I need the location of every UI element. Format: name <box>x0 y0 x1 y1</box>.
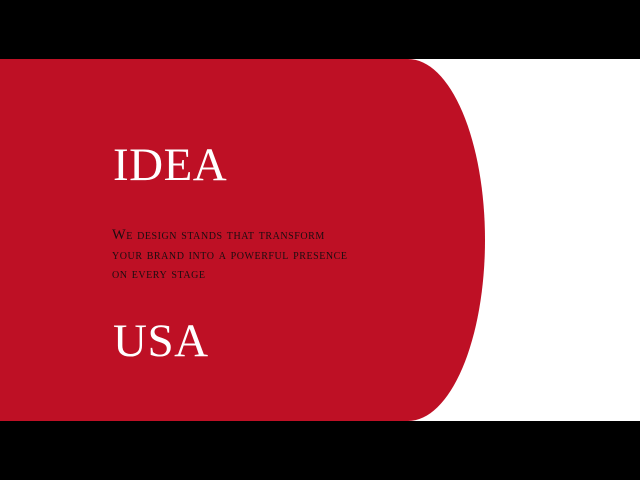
tagline-line-3: on every stage <box>112 265 348 285</box>
slide-canvas: IDEA We design stands that transform you… <box>0 0 640 480</box>
letterbox-bar-top <box>0 0 640 59</box>
letterbox-bar-bottom <box>0 421 640 480</box>
tagline-paragraph: We design stands that transform your bra… <box>112 226 348 285</box>
slide-content-band: IDEA We design stands that transform you… <box>0 59 640 421</box>
tagline-line-1: We design stands that transform <box>112 226 348 246</box>
tagline-line-2: your brand into a powerful presence <box>112 246 348 266</box>
headline-primary: IDEA <box>113 142 227 189</box>
text-block: IDEA We design stands that transform you… <box>112 59 472 421</box>
headline-secondary: USA <box>113 318 209 365</box>
